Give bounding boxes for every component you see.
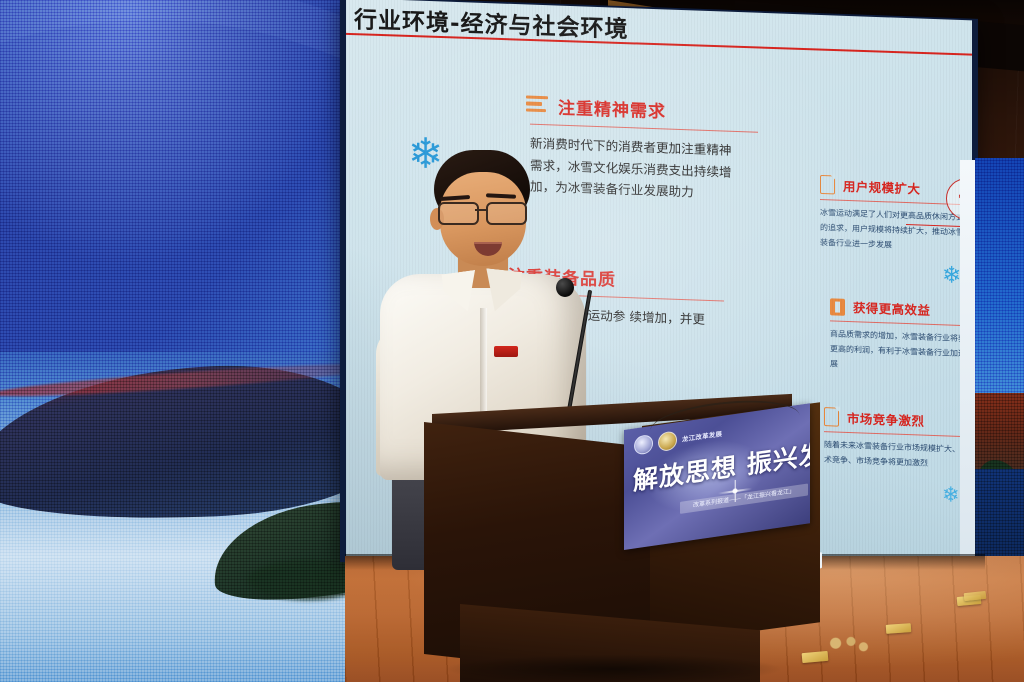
sky-region (975, 158, 1024, 402)
banner-logo-icon (634, 434, 653, 456)
podium-shadow (444, 654, 784, 682)
box-heading: 用户规模扩大 (843, 176, 920, 197)
box-header: 市场竞争激烈 (824, 407, 972, 431)
document-icon (824, 407, 839, 427)
slide-box-user-scale: 用户规模扩大 冰雪运动满足了人们对更高品质休闲方式的追求，用户规模将持续扩大，推… (820, 175, 970, 256)
slide-box-higher-benefit: 获得更高效益 商品质需求的增加，冰雪装备行业将获得更高的利润，有利于冰雪装备行业… (830, 297, 972, 377)
slide-box-fierce-competition: 市场竞争激烈 随着未来冰雪装备行业市场规模扩大、技术竞争、市场竞争将更加激烈 (824, 407, 972, 473)
glasses-bridge (475, 209, 487, 211)
box-body: 商品质需求的增加，冰雪装备行业将获得更高的利润，有利于冰雪装备行业加速发展 (830, 327, 972, 377)
document-icon (820, 175, 835, 195)
section-divider (530, 124, 758, 133)
coin-icon (830, 298, 845, 316)
floor-marker-tape (886, 623, 912, 634)
speaker-badge (494, 346, 518, 357)
bars-icon (526, 95, 548, 115)
glasses-icon (436, 202, 532, 222)
snowflake-icon: ❄ (942, 484, 960, 506)
section-heading: 注重精神需求 (558, 94, 666, 123)
podium: 龙江改革发展 解放思想 振兴发展 改革系列报道——「龙江振兴看龙江」 (424, 408, 814, 682)
left-led-video-wall (0, 0, 345, 682)
box-body: 冰雪运动满足了人们对更高品质休闲方式的追求，用户规模将持续扩大，推动冰雪装备行业… (820, 206, 970, 256)
snowflake-icon: ❄ (942, 264, 961, 288)
section-header: 注重精神需求 (526, 92, 760, 125)
glasses-lens-right (486, 202, 527, 225)
box-header: 获得更高效益 (830, 297, 972, 320)
box-divider (824, 431, 972, 437)
floor-debris (826, 636, 874, 654)
box-heading: 市场竞争激烈 (847, 408, 924, 429)
box-body: 随着未来冰雪装备行业市场规模扩大、技术竞争、市场竞争将更加激烈 (824, 438, 972, 473)
right-led-video-wall (975, 158, 1024, 578)
box-divider (830, 320, 972, 326)
glasses-lens-left (438, 202, 479, 225)
microphone-head (556, 278, 574, 297)
screenshot-root: 行业环境-经济与社会环境 注重精神需求 新消费时代下的消费者更加注重精神需求，冰… (0, 0, 1024, 682)
box-heading: 获得更高效益 (853, 298, 930, 319)
